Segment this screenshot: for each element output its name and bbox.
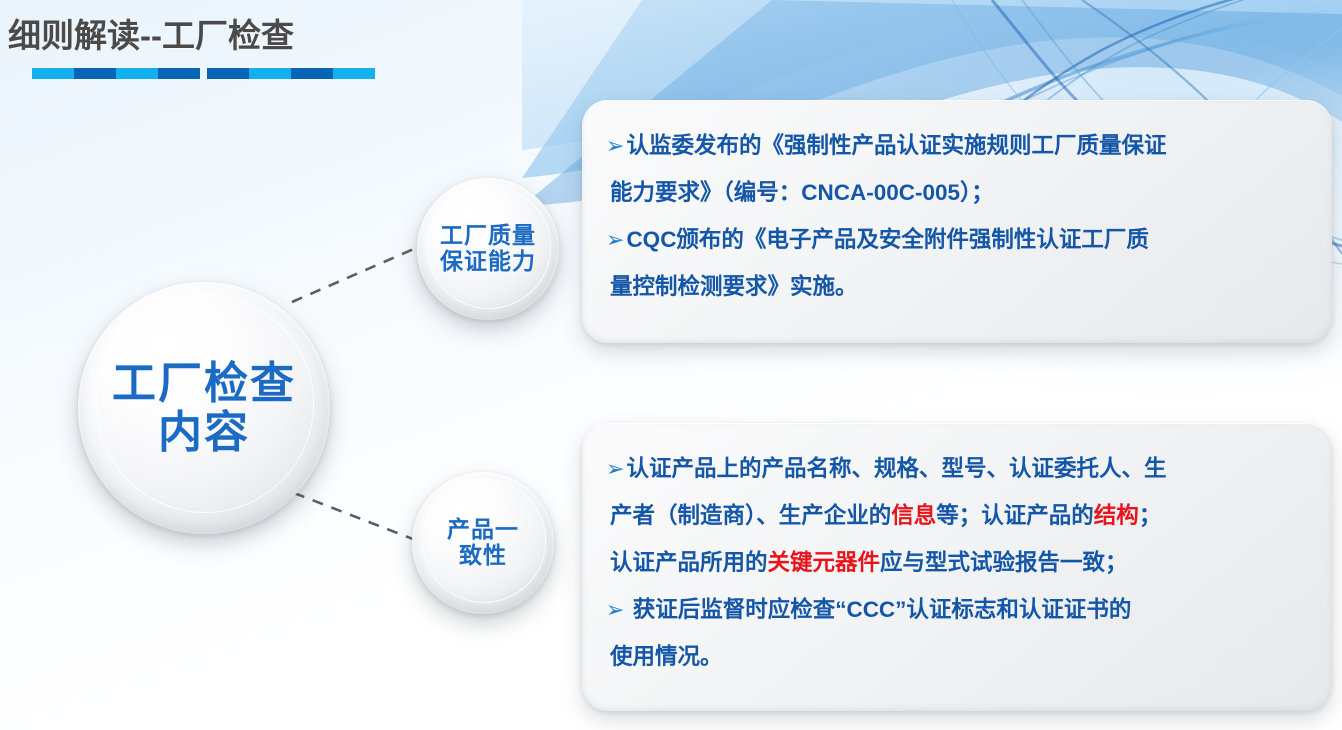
content-line: 使用情况。 [606,633,1302,680]
bullet-arrow-icon: ➢ [606,227,626,252]
content-text: 应与型式试验报告一致； [880,550,1128,575]
node-1-label-line-1: 工厂质量 [440,223,536,249]
accent-segment-2 [74,68,116,79]
content-line: 能力要求》（编号：CNCA-00C-005）； [606,169,1302,216]
content-line: ➢CQC颁布的《电子产品及安全附件强制性认证工厂质 [606,216,1302,263]
main-node-factory-inspection[interactable]: 工厂检查 内容 [78,282,330,534]
slide-canvas: 细则解读--工厂检查 工厂检查 内容 工厂质量 保证能力 产品一 致性 [0,0,1342,730]
bullet-arrow-icon: ➢ [606,597,626,622]
node-2-label: 产品一 致性 [447,517,519,569]
node-factory-quality-capability[interactable]: 工厂质量 保证能力 [417,178,559,320]
connector-to-node-1 [292,241,432,302]
accent-segment-4 [158,68,200,79]
node-2-label-line-2: 致性 [447,543,519,569]
accent-bar [32,68,375,79]
content-line: ➢认证产品上的产品名称、规格、型号、认证委托人、生 [606,445,1302,492]
main-node-label-line-1: 工厂检查 [112,359,296,408]
content-text: 认证产品所用的 [610,550,768,575]
node-product-consistency[interactable]: 产品一 致性 [412,472,554,614]
content-text: 产者（制造商）、生产企业的 [610,503,891,528]
content-box-factory-quality-capability: ➢认监委发布的《强制性产品认证实施规则工厂质量保证能力要求》（编号：CNCA-0… [582,100,1332,343]
content-text: 认证产品上的产品名称、规格、型号、认证委托人、生 [626,456,1166,481]
content-text: 能力要求》（编号：CNCA-00C-005）； [610,180,994,205]
highlighted-term: 信息 [891,503,936,528]
content-box-product-consistency: ➢认证产品上的产品名称、规格、型号、认证委托人、生产者（制造商）、生产企业的信息… [582,423,1332,711]
content-text: 量控制检测要求》实施。 [610,274,858,299]
content-text: 获证后监督时应检查“CCC”认证标志和认证证书的 [626,597,1131,622]
content-line: 量控制检测要求》实施。 [606,263,1302,310]
accent-segment-3 [116,68,158,79]
content-text: ； [1139,503,1162,528]
content-text: CQC颁布的《电子产品及安全附件强制性认证工厂质 [626,227,1149,252]
highlighted-term: 结构 [1094,503,1139,528]
content-line: ➢ 获证后监督时应检查“CCC”认证标志和认证证书的 [606,586,1302,633]
accent-segment-8 [333,68,375,79]
content-text: 等；认证产品的 [936,503,1094,528]
node-2-label-line-1: 产品一 [447,517,519,543]
node-1-label: 工厂质量 保证能力 [440,223,536,275]
content-text: 认监委发布的《强制性产品认证实施规则工厂质量保证 [626,133,1166,158]
content-line: ➢认监委发布的《强制性产品认证实施规则工厂质量保证 [606,122,1302,169]
accent-segment-6 [249,68,291,79]
accent-segment-7 [291,68,333,79]
content-line: 产者（制造商）、生产企业的信息等；认证产品的结构； [606,492,1302,539]
main-node-label: 工厂检查 内容 [112,359,296,458]
highlighted-term: 关键元器件 [768,550,881,575]
accent-gap [200,68,207,79]
accent-segment-5 [207,68,249,79]
node-1-label-line-2: 保证能力 [440,249,536,275]
bullet-arrow-icon: ➢ [606,133,626,158]
content-line: 认证产品所用的关键元器件应与型式试验报告一致； [606,539,1302,586]
main-node-label-line-2: 内容 [112,408,296,457]
accent-segment-1 [32,68,74,79]
page-title: 细则解读--工厂检查 [8,9,294,57]
bullet-arrow-icon: ➢ [606,456,626,481]
content-text: 使用情况。 [610,644,723,669]
